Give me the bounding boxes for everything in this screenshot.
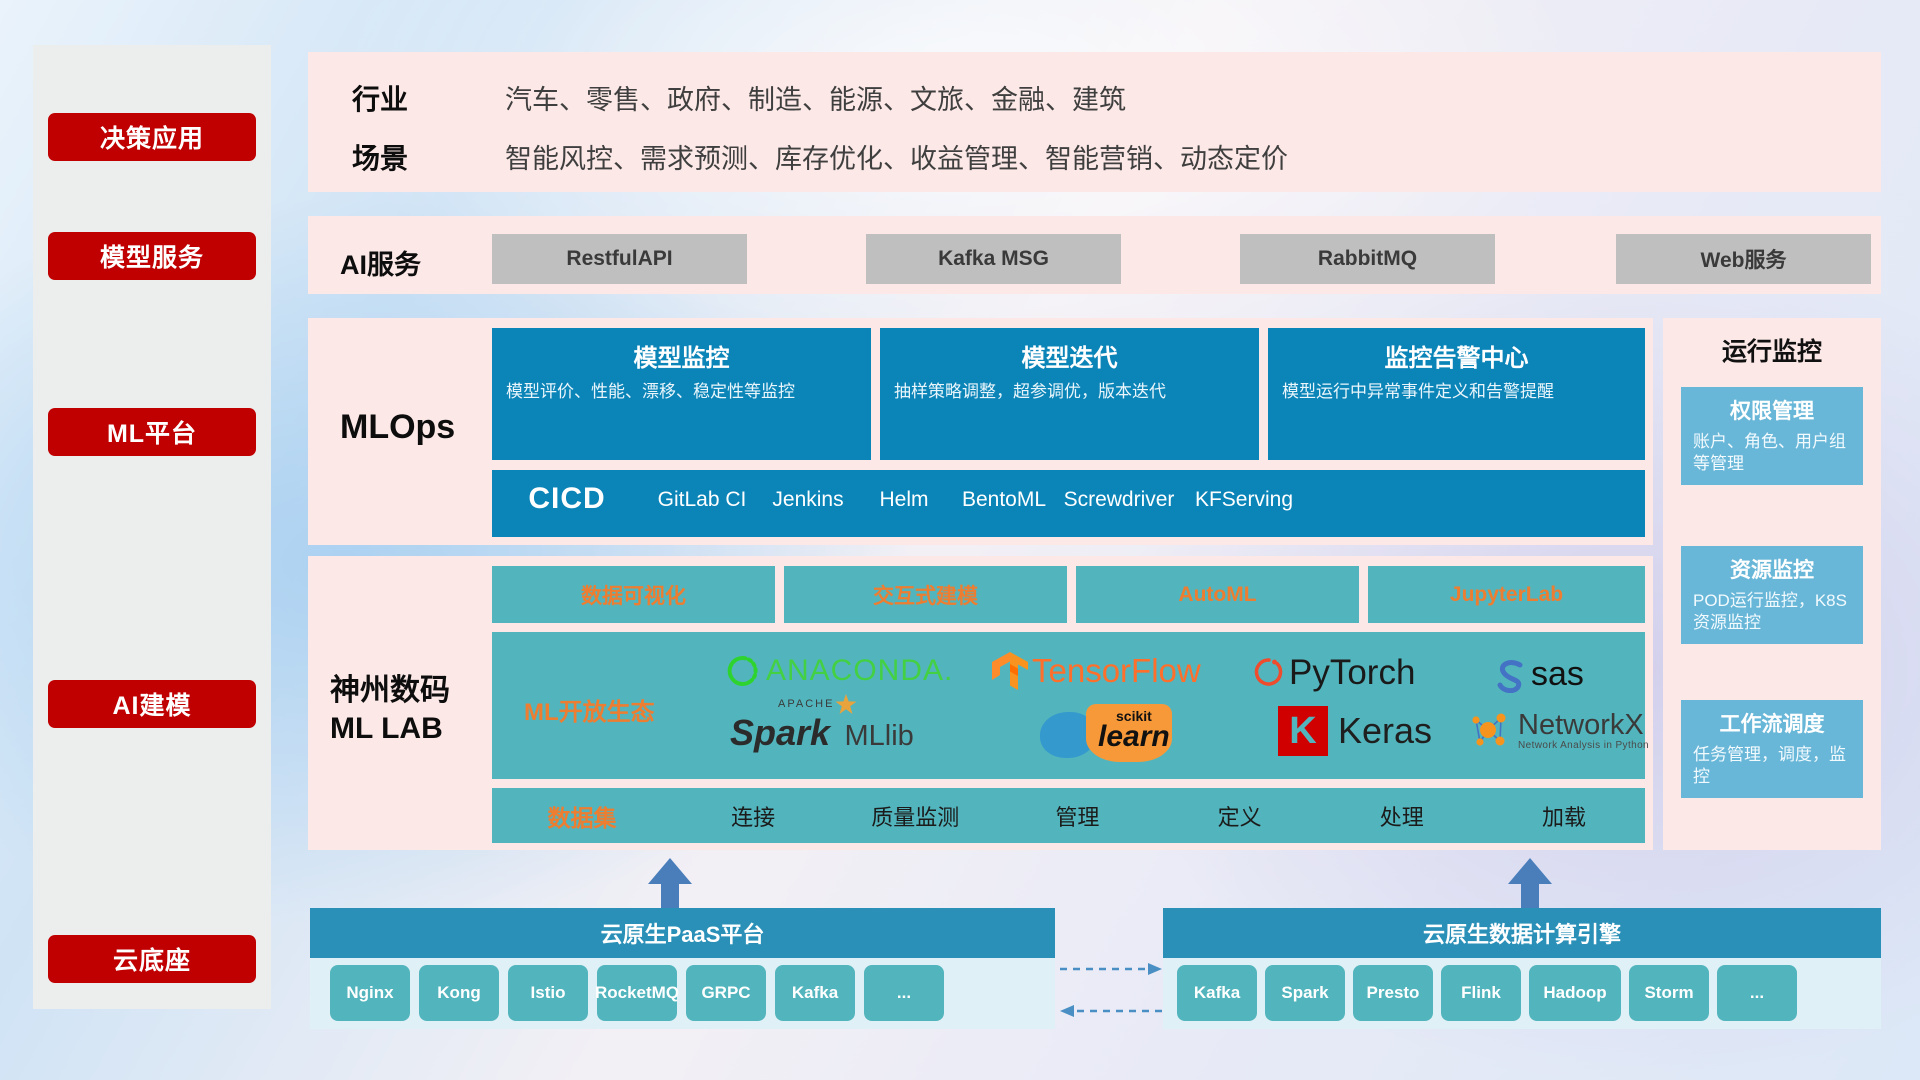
cloud-connectors [1058, 955, 1166, 1025]
rail-tag-model-service[interactable]: 模型服务 [48, 232, 256, 280]
mlops-card-model-monitoring[interactable]: 模型监控 模型评价、性能、漂移、稳定性等监控 [492, 328, 871, 460]
paas-chip-nginx[interactable]: Nginx [330, 965, 410, 1021]
paas-chip-grpc[interactable]: GRPC [686, 965, 766, 1021]
rail-tag-label: ML平台 [107, 414, 197, 450]
paas-title: 云原生PaaS平台 [601, 917, 765, 949]
pytorch-icon [1253, 655, 1285, 691]
service-chip-restfulapi[interactable]: RestfulAPI [492, 234, 747, 284]
spark-logo-text: Spark [730, 712, 830, 753]
sas-icon [1492, 657, 1530, 693]
card-desc: 抽样策略调整，超参调优，版本迭代 [894, 381, 1245, 404]
scenario-value: 智能风控、需求预测、库存优化、收益管理、智能营销、动态定价 [505, 137, 1288, 176]
chip-label: Flink [1461, 983, 1501, 1003]
tool-chip-data-visualization[interactable]: 数据可视化 [492, 566, 775, 623]
cicd-bar: CICD GitLab CI Jenkins Helm BentoML Scre… [492, 470, 1645, 537]
compute-chip-spark[interactable]: Spark [1265, 965, 1345, 1021]
paas-chip-rocketmq[interactable]: RocketMQ [597, 965, 677, 1021]
card-desc: 模型运行中异常事件定义和告警提醒 [1282, 381, 1631, 404]
compute-chip-flink[interactable]: Flink [1441, 965, 1521, 1021]
cicd-item-jenkins[interactable]: Jenkins [762, 470, 854, 513]
paas-chip-more[interactable]: ... [864, 965, 944, 1021]
networkx-subtitle: Network Analysis in Python [1518, 740, 1649, 751]
service-chip-label: Web服务 [1701, 244, 1787, 274]
service-chip-rabbitmq[interactable]: RabbitMQ [1240, 234, 1495, 284]
scikit-learn-logo: scikit learn [1040, 706, 1220, 762]
chip-label: GRPC [701, 983, 750, 1003]
pytorch-logo: PyTorch [1253, 653, 1415, 693]
left-rail [33, 45, 271, 1009]
pytorch-logo-text: PyTorch [1289, 653, 1415, 693]
compute-chip-hadoop[interactable]: Hadoop [1529, 965, 1621, 1021]
monitor-card-permission[interactable]: 权限管理 账户、角色、用户组等管理 [1681, 387, 1863, 485]
chip-label: Kafka [1194, 983, 1240, 1003]
tensorflow-logo-text: TensorFlow [1032, 652, 1201, 690]
cicd-item-bentoml[interactable]: BentoML [954, 470, 1054, 513]
networkx-logo: NetworkX Network Analysis in Python [1466, 708, 1649, 754]
dataset-item-load[interactable]: 加载 [1483, 800, 1645, 832]
spark-star-icon [835, 694, 857, 716]
card-desc: POD运行监控，K8S资源监控 [1693, 590, 1851, 634]
chip-label: Storm [1644, 983, 1693, 1003]
chip-label: ... [1750, 983, 1764, 1003]
paas-chip-istio[interactable]: Istio [508, 965, 588, 1021]
learn-text: learn [1098, 720, 1170, 754]
ml-lab-label-line1: 神州数码 [330, 672, 450, 710]
cicd-item-kfserving[interactable]: KFServing [1184, 470, 1304, 513]
service-chip-kafka-msg[interactable]: Kafka MSG [866, 234, 1121, 284]
dataset-item-manage[interactable]: 管理 [996, 800, 1158, 832]
networkx-icon [1466, 708, 1512, 754]
card-desc: 账户、角色、用户组等管理 [1693, 431, 1851, 475]
card-title: 模型迭代 [894, 338, 1245, 373]
chip-label: RocketMQ [595, 983, 679, 1003]
rail-tag-label: 决策应用 [100, 119, 204, 155]
card-title: 资源监控 [1693, 554, 1851, 584]
tool-chip-label: 交互式建模 [873, 580, 978, 610]
dataset-item-connect[interactable]: 连接 [672, 800, 834, 832]
dataset-item-process[interactable]: 处理 [1321, 800, 1483, 832]
card-title: 权限管理 [1693, 395, 1851, 425]
rail-tag-ml-platform[interactable]: ML平台 [48, 408, 256, 456]
mllib-logo-text: MLlib [845, 720, 914, 752]
paas-chip-kong[interactable]: Kong [419, 965, 499, 1021]
dataset-label: 数据集 [492, 799, 672, 833]
paas-chip-kafka[interactable]: Kafka [775, 965, 855, 1021]
compute-chip-presto[interactable]: Presto [1353, 965, 1433, 1021]
card-desc: 任务管理，调度，监控 [1693, 744, 1851, 788]
cicd-item-screwdriver[interactable]: Screwdriver [1054, 470, 1184, 513]
tool-chip-interactive-modeling[interactable]: 交互式建模 [784, 566, 1067, 623]
card-desc: 模型评价、性能、漂移、稳定性等监控 [506, 381, 857, 404]
chip-label: Hadoop [1543, 983, 1606, 1003]
tool-chip-label: JupyterLab [1450, 583, 1563, 607]
ai-service-label: AI服务 [340, 243, 421, 282]
chip-label: Spark [1281, 983, 1328, 1003]
ml-lab-label-line2: ML LAB [330, 710, 450, 748]
spark-apache-text: APACHE [778, 698, 834, 710]
chip-label: Kafka [792, 983, 838, 1003]
sas-logo-text: sas [1531, 655, 1584, 694]
industry-value: 汽车、零售、政府、制造、能源、文旅、金融、建筑 [505, 78, 1126, 117]
chip-label: Istio [531, 983, 566, 1003]
spark-mllib-logo: APACHE Spark MLlib [730, 712, 914, 754]
cicd-item-gitlab-ci[interactable]: GitLab CI [642, 470, 762, 513]
service-chip-web-service[interactable]: Web服务 [1616, 234, 1871, 284]
anaconda-icon [726, 654, 760, 688]
monitor-card-resource[interactable]: 资源监控 POD运行监控，K8S资源监控 [1681, 546, 1863, 644]
card-title: 工作流调度 [1693, 708, 1851, 738]
rail-tag-label: 模型服务 [100, 238, 204, 274]
anaconda-logo: ANACONDA. [726, 654, 953, 688]
monitor-card-workflow[interactable]: 工作流调度 任务管理，调度，监控 [1681, 700, 1863, 798]
sas-logo: sas [1492, 655, 1584, 694]
dataset-item-define[interactable]: 定义 [1159, 800, 1321, 832]
runtime-monitor-title: 运行监控 [1663, 332, 1881, 368]
chip-label: Kong [437, 983, 480, 1003]
rail-tag-decision-app[interactable]: 决策应用 [48, 113, 256, 161]
tool-chip-label: 数据可视化 [581, 580, 686, 610]
service-chip-label: RabbitMQ [1318, 247, 1417, 271]
tensorflow-icon [990, 650, 1030, 692]
rail-tag-label: 云底座 [113, 941, 191, 977]
compute-chip-storm[interactable]: Storm [1629, 965, 1709, 1021]
cicd-item-helm[interactable]: Helm [854, 470, 954, 513]
cicd-label: CICD [492, 470, 642, 516]
compute-header: 云原生数据计算引擎 [1163, 908, 1881, 958]
tensorflow-logo: TensorFlow [990, 650, 1201, 692]
architecture-diagram: 决策应用 模型服务 ML平台 AI建模 云底座 行业 汽车、零售、政府、制造、能… [0, 0, 1920, 1080]
networkx-logo-text: NetworkX [1518, 711, 1649, 740]
tool-chip-automl[interactable]: AutoML [1076, 566, 1359, 623]
paas-header: 云原生PaaS平台 [310, 908, 1055, 958]
chip-label: Nginx [346, 983, 393, 1003]
service-chip-label: RestfulAPI [566, 247, 672, 271]
service-chip-label: Kafka MSG [938, 247, 1049, 271]
mlops-label: MLOps [340, 408, 455, 447]
mlops-card-alert-center[interactable]: 监控告警中心 模型运行中异常事件定义和告警提醒 [1268, 328, 1645, 460]
anaconda-logo-text: ANACONDA. [766, 654, 953, 688]
industry-label: 行业 [352, 78, 408, 118]
tool-chip-label: AutoML [1178, 583, 1256, 607]
card-title: 监控告警中心 [1282, 338, 1631, 373]
compute-chip-kafka[interactable]: Kafka [1177, 965, 1257, 1021]
keras-logo: K Keras [1278, 706, 1432, 756]
rail-tag-cloud-base[interactable]: 云底座 [48, 935, 256, 983]
keras-logo-text: Keras [1338, 710, 1432, 752]
mlops-card-model-iteration[interactable]: 模型迭代 抽样策略调整，超参调优，版本迭代 [880, 328, 1259, 460]
rail-tag-label: AI建模 [112, 686, 191, 722]
chip-label: ... [897, 983, 911, 1003]
scenario-label: 场景 [352, 137, 408, 177]
rail-tag-ai-modeling[interactable]: AI建模 [48, 680, 256, 728]
ml-lab-label: 神州数码 ML LAB [330, 672, 450, 747]
chip-label: Presto [1367, 983, 1420, 1003]
card-title: 模型监控 [506, 338, 857, 373]
ecosystem-label: ML开放生态 [524, 692, 655, 727]
tool-chip-jupyterlab[interactable]: JupyterLab [1368, 566, 1645, 623]
keras-mark-icon: K [1278, 706, 1328, 756]
keras-mark-letter: K [1289, 712, 1316, 750]
compute-chip-more[interactable]: ... [1717, 965, 1797, 1021]
dataset-item-quality-monitor[interactable]: 质量监测 [834, 800, 996, 832]
compute-title: 云原生数据计算引擎 [1423, 917, 1621, 949]
